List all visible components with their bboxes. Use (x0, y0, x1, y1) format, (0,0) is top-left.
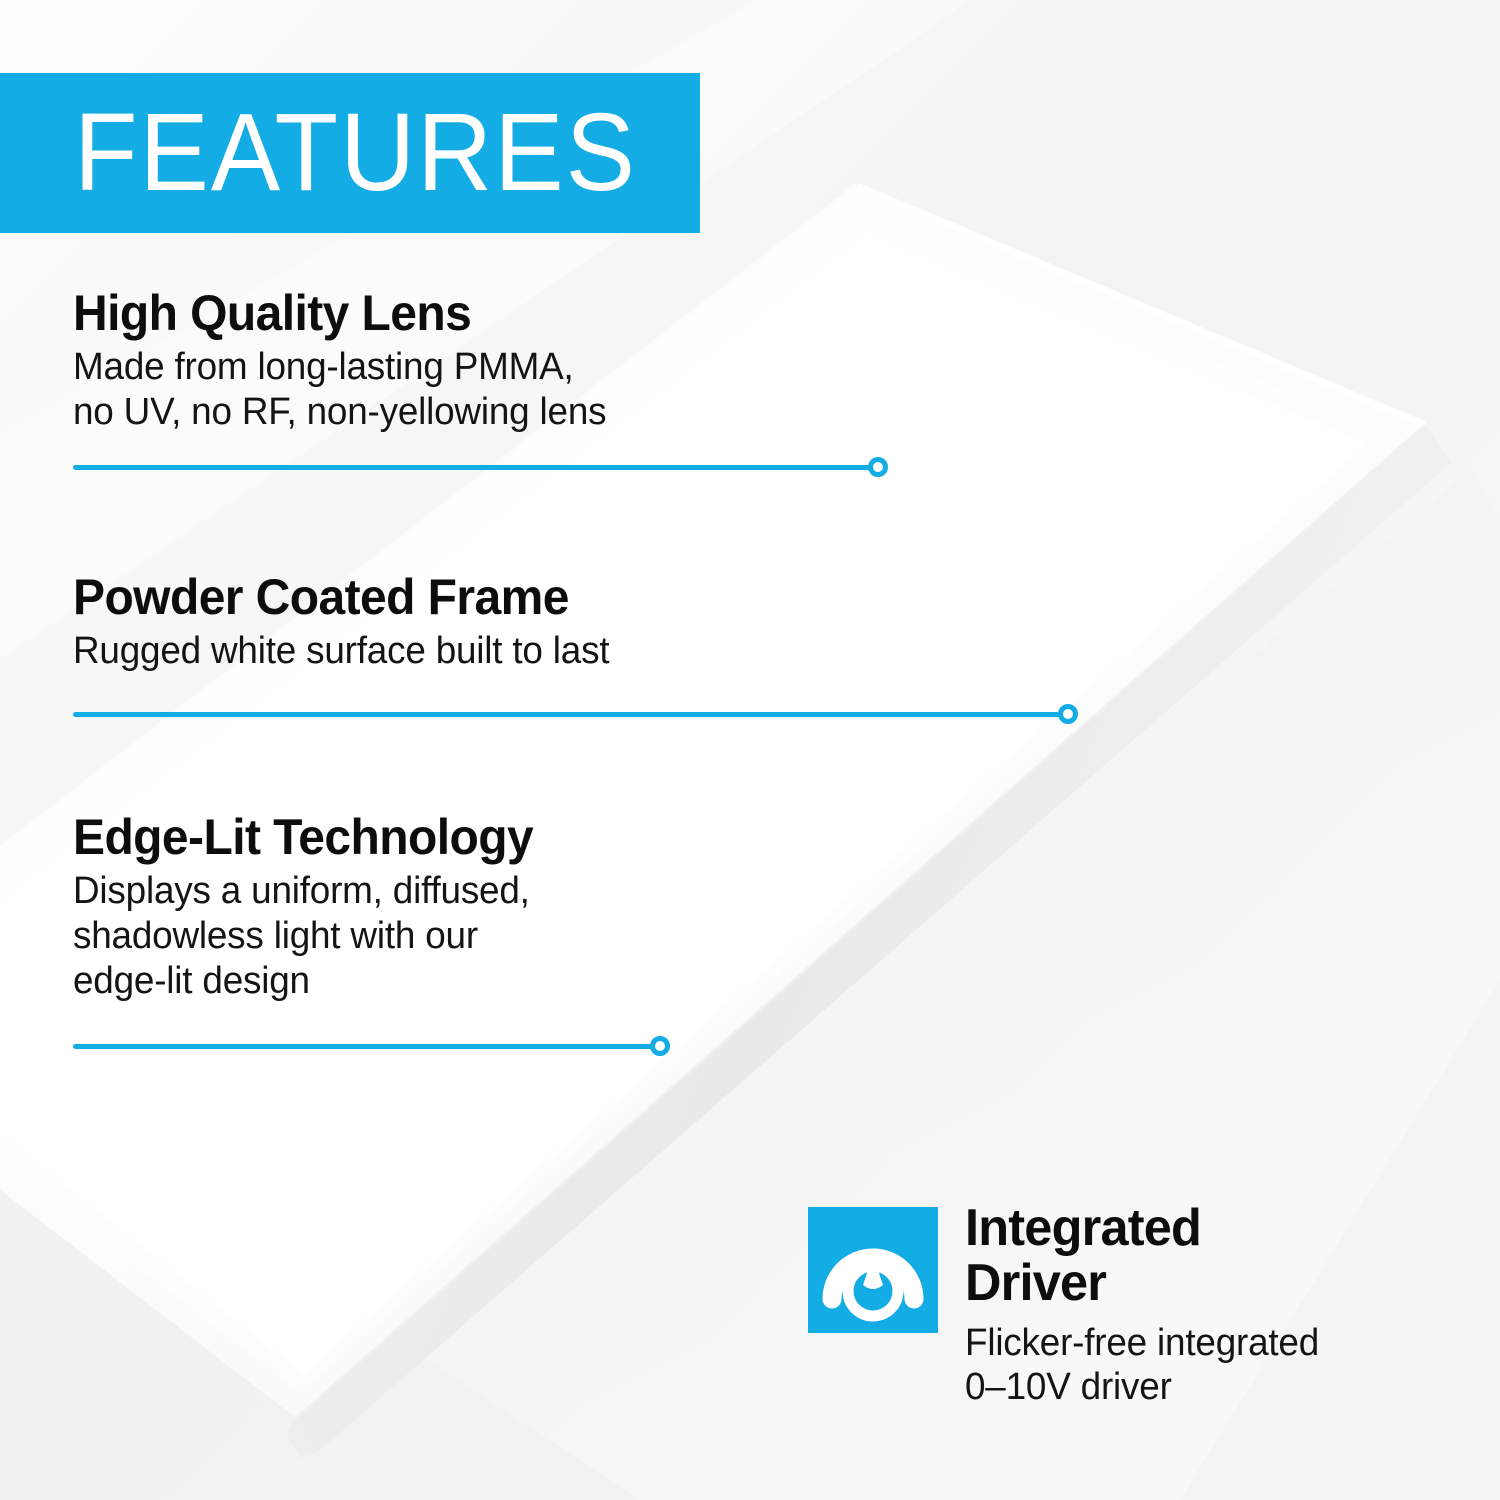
feature-3-description: Displays a uniform, diffused, shadowless… (73, 869, 538, 1003)
dimmer-gauge-icon (808, 1207, 938, 1333)
feature-1-connector-line (73, 465, 878, 470)
feature-2-description: Rugged white surface built to last (73, 629, 609, 674)
feature-1-title: High Quality Lens (73, 288, 601, 339)
dimmer-gauge-icon-glyph (808, 1207, 938, 1333)
feature-2-title: Powder Coated Frame (73, 572, 604, 623)
features-banner: FEATURES (0, 73, 700, 233)
feature-2-connector-endpoint (1058, 704, 1078, 724)
feature-3-connector-endpoint (650, 1036, 670, 1056)
feature-block-1: High Quality Lens Made from long-lasting… (73, 288, 623, 435)
integrated-driver-description: Flicker-free integrated 0–10V driver (965, 1321, 1450, 1409)
features-banner-label: FEATURES (0, 98, 637, 208)
feature-block-3: Edge-Lit Technology Displays a uniform, … (73, 812, 552, 1003)
feature-3-connector-line (73, 1044, 660, 1049)
features-infographic: FEATURES High Quality Lens Made from lon… (0, 0, 1500, 1500)
feature-block-2: Powder Coated Frame Rugged white surface… (73, 572, 626, 674)
feature-2-connector-line (73, 712, 1068, 717)
feature-3-title: Edge-Lit Technology (73, 812, 533, 863)
integrated-driver-title: Integrated Driver (965, 1201, 1450, 1311)
feature-1-connector-endpoint (868, 457, 888, 477)
feature-3-connector (73, 1036, 680, 1056)
feature-1-description: Made from long-lasting PMMA, no UV, no R… (73, 345, 606, 435)
feature-1-connector (73, 457, 898, 477)
feature-2-connector (73, 704, 1088, 724)
integrated-driver-text: Integrated Driver Flicker-free integrate… (965, 1201, 1465, 1409)
